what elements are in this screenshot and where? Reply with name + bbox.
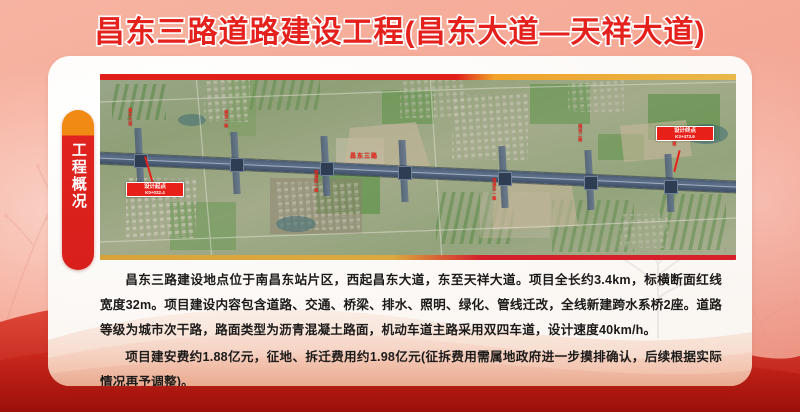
content-panel: 工程概况	[48, 56, 752, 386]
street-label-5: 规划二路	[578, 124, 582, 142]
aerial-map-image[interactable]: 昌东大道 规划一路 瑶湖西一路 昌东三路 瑶湖东一路 规划二路 天祥大道 设计起…	[100, 74, 736, 260]
intersection-node-7	[664, 180, 678, 194]
intersection-node-4	[398, 166, 412, 180]
intersection-node-3	[320, 162, 334, 176]
project-overview-poster: 昌东三路道路建设工程(昌东大道—天祥大道)	[0, 0, 800, 412]
section-badge: 工程概况	[62, 110, 94, 270]
intersection-node-6	[584, 176, 598, 190]
street-label-2: 瑶湖西一路	[314, 170, 318, 193]
overview-body-text: 昌东三路建设地点位于南昌东站片区，西起昌东大道，东至天祥大道。项目全长约3.4k…	[100, 268, 722, 386]
overview-paragraph-1: 昌东三路建设地点位于南昌东站片区，西起昌东大道，东至天祥大道。项目全长约3.4k…	[100, 268, 722, 343]
design-end-callout: 设计终点 K3+473.6	[656, 126, 714, 141]
street-label-3: 昌东三路	[350, 154, 378, 160]
design-end-station: K3+473.6	[659, 134, 711, 139]
overview-paragraph-2: 项目建安费约1.88亿元，征地、拆迁费用约1.98亿元(征拆费用需属地政府进一步…	[100, 345, 722, 386]
intersection-node-2	[230, 158, 244, 172]
map-bottom-accent-bar	[100, 255, 736, 260]
map-top-accent-bar	[100, 74, 736, 80]
street-label-1: 规划一路	[224, 110, 228, 128]
design-start-station: K0+032.4	[129, 190, 181, 195]
intersection-node-5	[498, 172, 512, 186]
street-label-4: 瑶湖东一路	[492, 178, 496, 201]
poster-title-container: 昌东三路道路建设工程(昌东大道—天祥大道)	[0, 6, 800, 52]
section-badge-label: 工程概况	[69, 142, 87, 210]
street-label-0: 昌东大道	[128, 108, 132, 126]
poster-title: 昌东三路道路建设工程(昌东大道—天祥大道)	[95, 7, 706, 51]
design-start-callout: 设计起点 K0+032.4	[126, 182, 184, 197]
